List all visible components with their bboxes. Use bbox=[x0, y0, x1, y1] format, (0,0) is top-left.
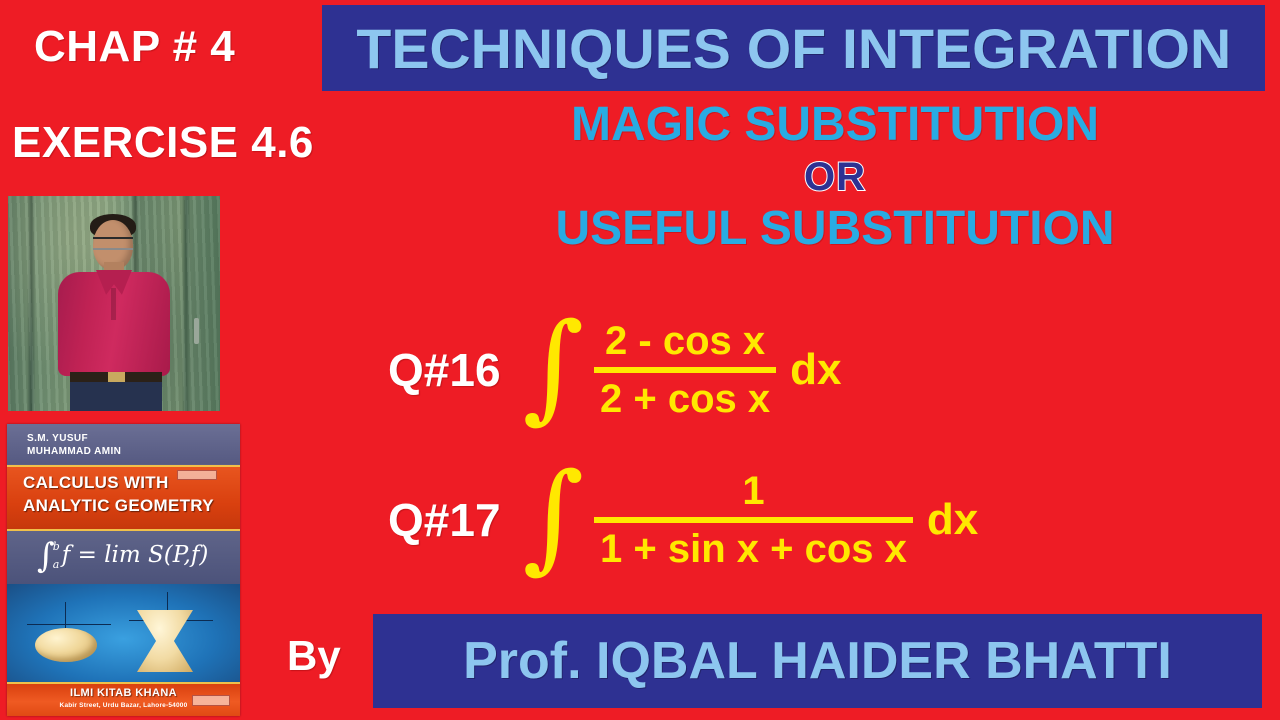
glasses-icon bbox=[93, 237, 133, 250]
question-16-numerator: 2 - cos x bbox=[599, 318, 771, 364]
author-name: Prof. IQBAL HAIDER BHATTI bbox=[463, 631, 1172, 691]
question-17-row: Q#17 ∫ 1 1 + sin x + cos x dx bbox=[388, 468, 978, 572]
byline-by-label: By bbox=[287, 632, 341, 680]
person-shirt-placket bbox=[111, 288, 116, 320]
subtitle-useful-substitution: USEFUL SUBSTITUTION bbox=[440, 202, 1230, 256]
exercise-heading: EXERCISE 4.6 bbox=[12, 118, 314, 168]
integral-icon: ∫ bbox=[523, 324, 584, 409]
book-barcode-icon bbox=[192, 695, 230, 706]
book-cover: S.M. YUSUF MUHAMMAD AMIN CALCULUS WITH A… bbox=[7, 424, 240, 716]
subtitle-block: MAGIC SUBSTITUTION OR USEFUL SUBSTITUTIO… bbox=[440, 98, 1230, 256]
chapter-heading: CHAP # 4 bbox=[34, 22, 235, 72]
book-formula-lower-limit: a bbox=[53, 558, 60, 571]
book-author-1: S.M. YUSUF bbox=[27, 432, 121, 445]
person-trousers bbox=[70, 382, 162, 411]
book-formula-upper-limit: b bbox=[53, 540, 60, 553]
title-banner: TECHNIQUES OF INTEGRATION bbox=[322, 5, 1265, 91]
question-17-label: Q#17 bbox=[388, 493, 501, 547]
author-banner: Prof. IQBAL HAIDER BHATTI bbox=[373, 614, 1262, 708]
book-formula: ∫baf = lim S(P,f) bbox=[37, 536, 208, 576]
instructor-photo bbox=[8, 196, 220, 411]
question-16-row: Q#16 ∫ 2 - cos x 2 + cos x dx bbox=[388, 318, 842, 422]
door-handle-icon bbox=[194, 318, 199, 344]
question-16-differential: dx bbox=[790, 345, 841, 395]
question-16-label: Q#16 bbox=[388, 343, 501, 397]
question-17-denominator: 1 + sin x + cos x bbox=[594, 526, 913, 572]
fraction-bar bbox=[594, 367, 776, 373]
question-16-fraction: 2 - cos x 2 + cos x bbox=[594, 318, 776, 422]
title-banner-text: TECHNIQUES OF INTEGRATION bbox=[356, 16, 1231, 81]
slide-canvas: CHAP # 4 EXERCISE 4.6 TECHNIQUES OF INTE… bbox=[0, 0, 1280, 720]
book-author-2: MUHAMMAD AMIN bbox=[27, 445, 121, 458]
axis-line bbox=[27, 624, 111, 625]
fraction-bar bbox=[594, 517, 913, 523]
question-17-differential: dx bbox=[927, 495, 978, 545]
subtitle-magic-substitution: MAGIC SUBSTITUTION bbox=[440, 98, 1230, 152]
book-formula-body: f = lim S(P,f) bbox=[62, 542, 209, 568]
book-authors: S.M. YUSUF MUHAMMAD AMIN bbox=[27, 432, 121, 458]
book-title-line-2: ANALYTIC GEOMETRY bbox=[23, 494, 214, 517]
question-16-denominator: 2 + cos x bbox=[594, 376, 776, 422]
book-title-line-1: CALCULUS WITH bbox=[23, 471, 214, 494]
question-17-numerator: 1 bbox=[736, 468, 770, 514]
subtitle-or-connector: OR bbox=[440, 152, 1230, 202]
book-title: CALCULUS WITH ANALYTIC GEOMETRY bbox=[23, 471, 214, 517]
ellipsoid-shape bbox=[35, 628, 97, 662]
integral-icon: ∫ bbox=[523, 474, 584, 559]
question-17-fraction: 1 1 + sin x + cos x bbox=[594, 468, 913, 572]
